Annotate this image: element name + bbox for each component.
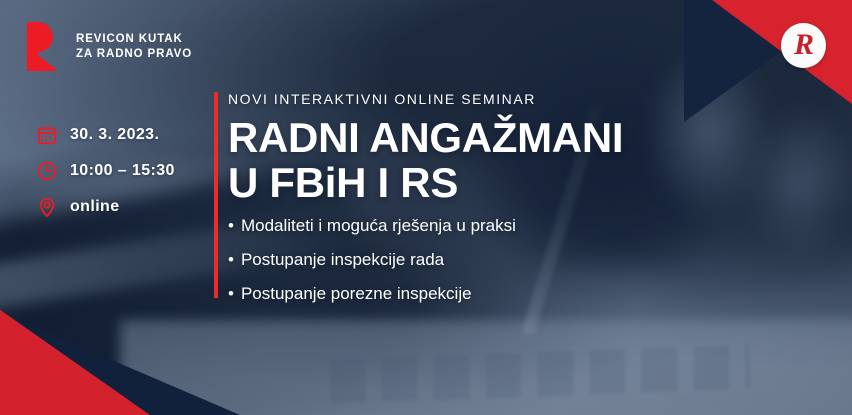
red-accent-bar — [214, 92, 218, 298]
calendar-icon — [36, 124, 58, 146]
main-content-block: NOVI INTERAKTIVNI ONLINE SEMINAR RADNI A… — [228, 90, 828, 318]
brand-logo: REVICON KUTAK ZA RADNO PRAVO — [27, 22, 192, 71]
event-info-date: 30. 3. 2023. — [36, 120, 175, 150]
list-item-label: Postupanje inspekcije rada — [241, 250, 444, 269]
event-info-list: 30. 3. 2023. 10:00 – 15:30 online — [36, 120, 175, 228]
event-info-time: 10:00 – 15:30 — [36, 156, 175, 186]
list-item: •Postupanje porezne inspekcije — [228, 284, 828, 304]
bullet-marker: • — [228, 250, 234, 269]
badge-letter: R — [794, 30, 813, 60]
seminar-title-line-1: RADNI ANGAŽMANI — [228, 114, 623, 161]
seminar-topic-list: •Modaliteti i moguća rješenja u praksi •… — [228, 216, 828, 304]
logo-mark-bowl — [38, 22, 53, 52]
seminar-title: RADNI ANGAŽMANI U FBiH I RS — [228, 115, 828, 205]
brand-logo-text: REVICON KUTAK ZA RADNO PRAVO — [76, 32, 192, 61]
location-pin-icon — [36, 196, 58, 218]
brand-logo-line-2: ZA RADNO PRAVO — [76, 47, 192, 62]
event-info-location: online — [36, 192, 175, 222]
bullet-marker: • — [228, 216, 234, 235]
list-item: •Modaliteti i moguća rješenja u praksi — [228, 216, 828, 236]
list-item: •Postupanje inspekcije rada — [228, 250, 828, 270]
event-time-text: 10:00 – 15:30 — [70, 162, 175, 180]
list-item-label: Modaliteti i moguća rješenja u praksi — [241, 216, 516, 235]
revicon-round-badge-icon: R — [781, 23, 826, 68]
brand-logo-line-1: REVICON KUTAK — [76, 32, 192, 47]
list-item-label: Postupanje porezne inspekcije — [241, 284, 472, 303]
event-location-text: online — [70, 198, 120, 216]
seminar-promo-banner: R REVICON KUTAK ZA RADNO PRAVO — [0, 0, 852, 415]
bullet-marker: • — [228, 284, 234, 303]
seminar-title-line-2: U FBiH I RS — [228, 160, 828, 205]
event-date-text: 30. 3. 2023. — [70, 126, 159, 144]
seminar-kicker: NOVI INTERAKTIVNI ONLINE SEMINAR — [228, 90, 828, 108]
revicon-r-mark-icon — [27, 22, 65, 71]
clock-icon — [36, 160, 58, 182]
